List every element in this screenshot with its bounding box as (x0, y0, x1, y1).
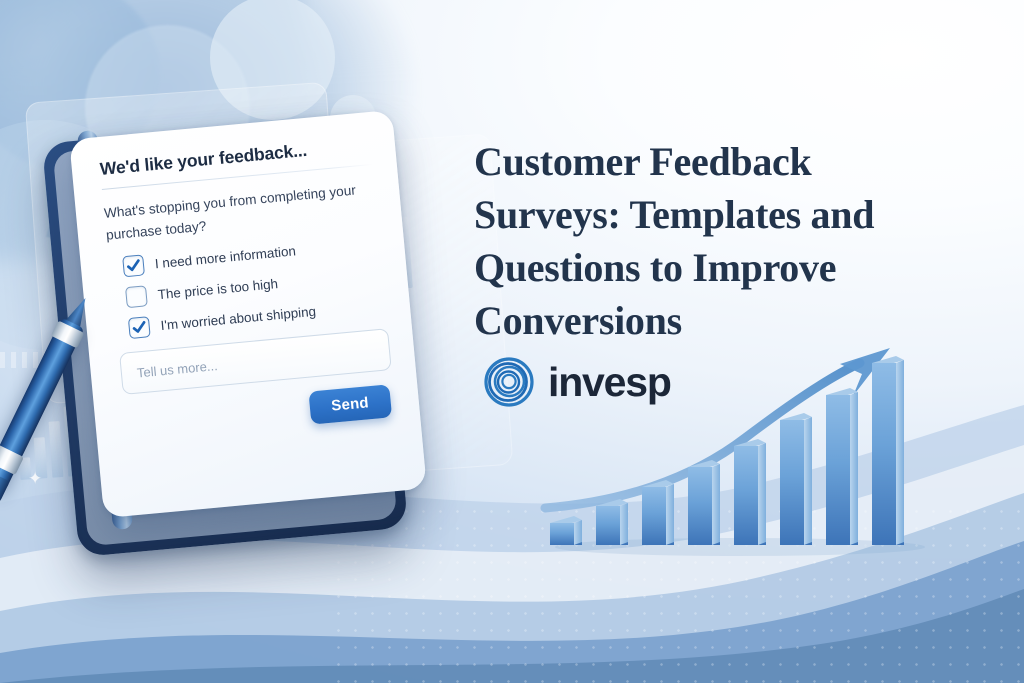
bar-6 (780, 413, 812, 545)
bar-7 (826, 388, 858, 545)
bar-3 (642, 480, 674, 545)
concentric-rings-icon (483, 356, 535, 408)
comment-input[interactable]: Tell us more... (119, 328, 392, 395)
survey-title: We'd like your feedback... (99, 134, 372, 180)
bar-8 (872, 356, 904, 545)
survey-option-label: I need more information (154, 243, 296, 271)
growth-bar-chart (540, 330, 940, 565)
survey-card: We'd like your feedback... What's stoppi… (69, 110, 427, 518)
bar-5 (734, 439, 766, 545)
bar-4 (688, 460, 720, 545)
survey-options-list: I need more information The price is too… (108, 233, 387, 341)
survey-option-label: I'm worried about shipping (160, 304, 317, 333)
poster-canvas: ✦ ✦ We'd like your feedback... What's st… (0, 0, 1024, 683)
page-title: Customer Feedback Surveys: Templates and… (474, 135, 964, 348)
comment-placeholder: Tell us more... (136, 358, 218, 380)
chart-svg (540, 330, 940, 565)
checkbox-checked-icon[interactable] (122, 254, 145, 277)
survey-option-label: The price is too high (157, 276, 278, 302)
survey-actions: Send (122, 384, 396, 442)
checkbox-checked-icon[interactable] (128, 316, 151, 339)
send-button[interactable]: Send (308, 384, 392, 424)
bar-2 (596, 499, 628, 545)
bar-1 (550, 516, 582, 545)
checkbox-unchecked-icon[interactable] (125, 285, 148, 308)
